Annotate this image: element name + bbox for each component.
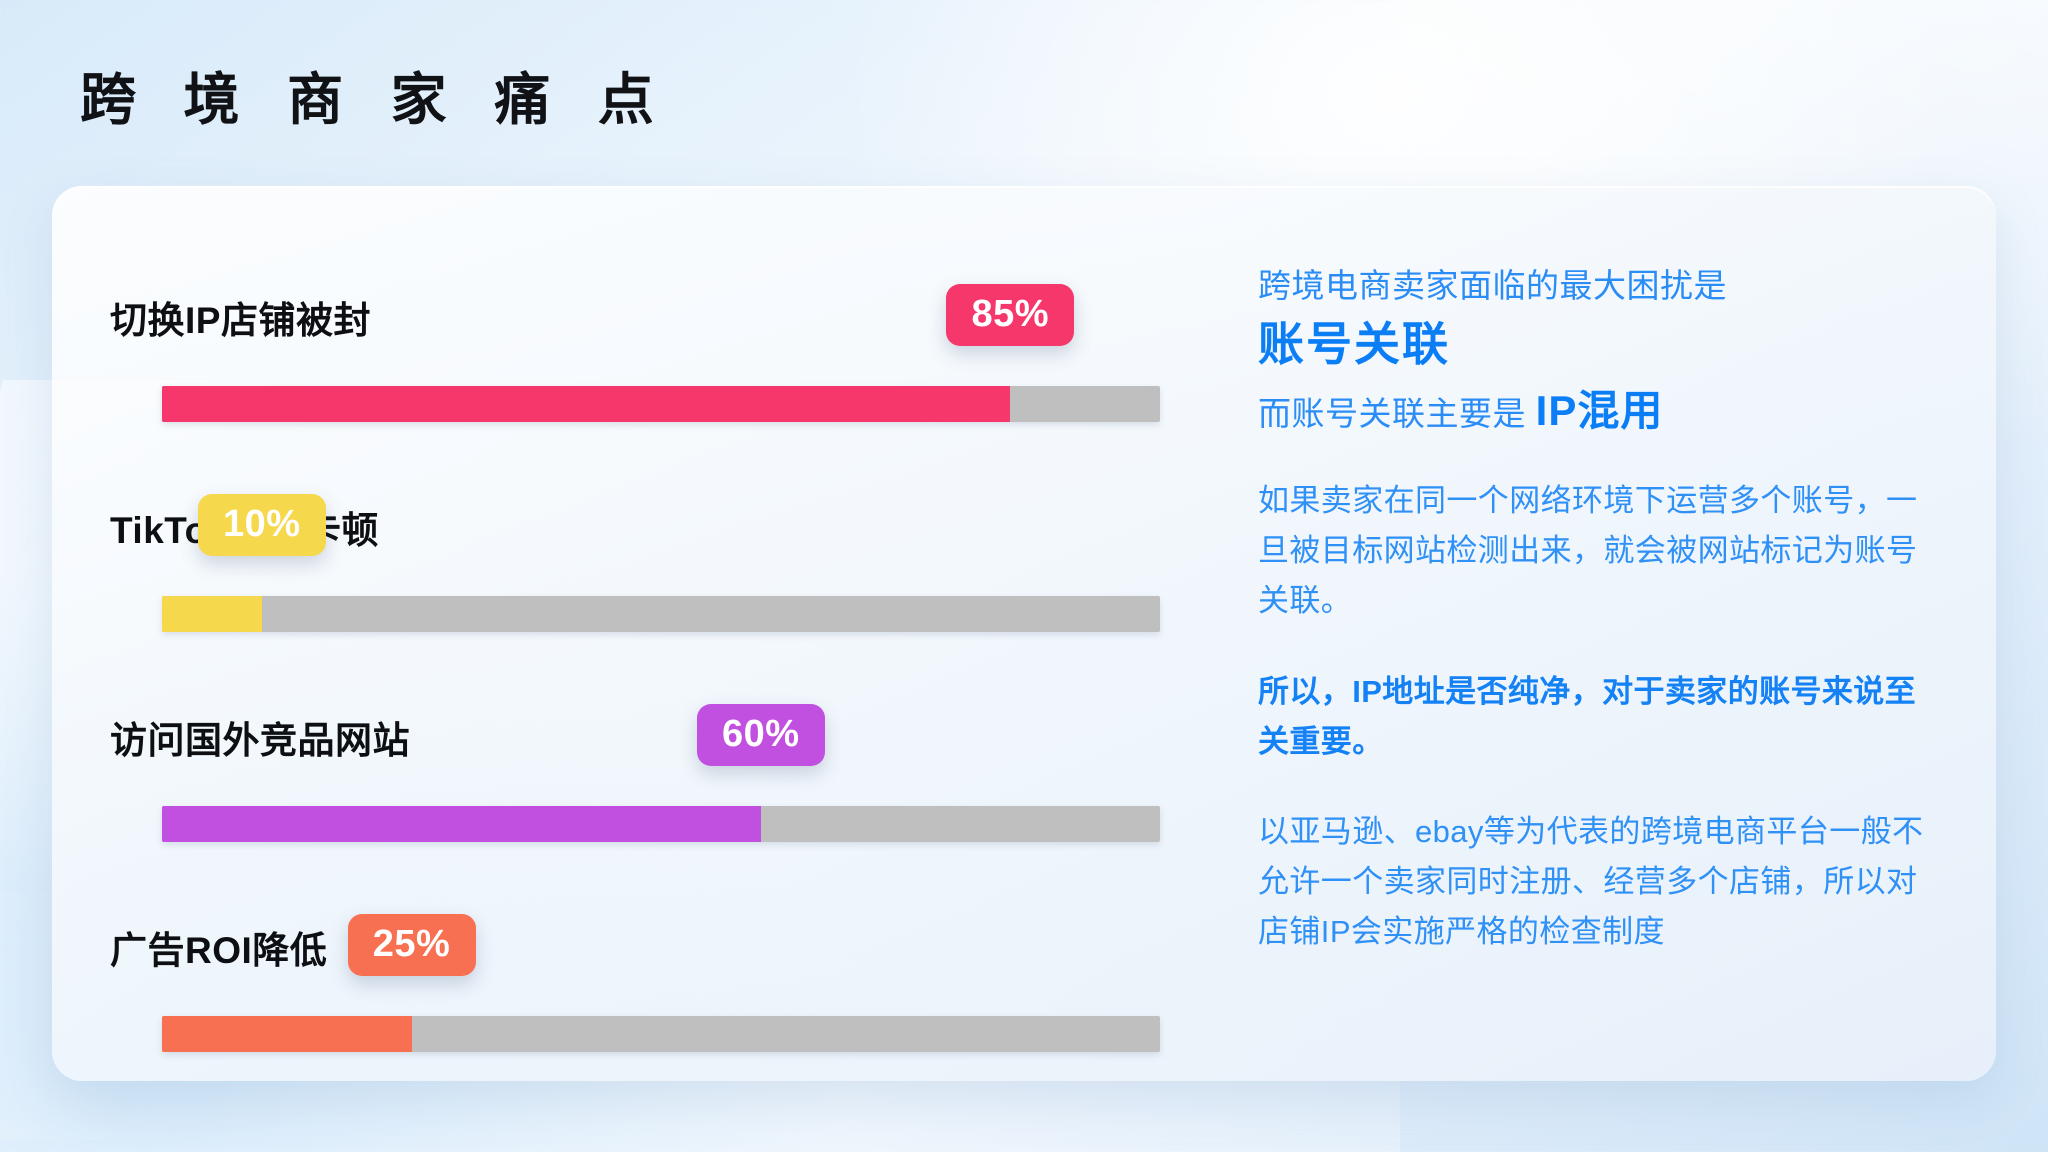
bar-value-badge: 25% — [348, 914, 476, 976]
copy-lead: 跨境电商卖家面临的最大困扰是 — [1258, 262, 1934, 310]
bar-header: 切换IP店铺被封 85% — [110, 282, 1202, 358]
bar-header: 访问国外竞品网站 60% — [110, 702, 1202, 778]
bar-label: 访问国外竞品网站 — [110, 722, 410, 759]
copy-keyword: 账号关联 — [1258, 310, 1934, 379]
content-card: 切换IP店铺被封 85% TikTok直播卡顿 10% 访问国外竞品网站 60% — [52, 186, 1996, 1081]
bar-header: TikTok直播卡顿 10% — [110, 492, 1202, 568]
bar-row: 切换IP店铺被封 85% — [110, 282, 1202, 492]
explanation-panel: 跨境电商卖家面临的最大困扰是 账号关联 而账号关联主要是 IP混用 如果卖家在同… — [1202, 186, 1996, 1081]
bar-track — [162, 596, 1160, 632]
bar-track — [162, 1016, 1160, 1052]
page-title: 跨 境 商 家 痛 点 — [80, 72, 670, 128]
bar-value-badge: 85% — [946, 284, 1074, 346]
bar-fill — [162, 806, 761, 842]
bar-value-badge: 10% — [198, 494, 326, 556]
bar-row: 访问国外竞品网站 60% — [110, 702, 1202, 912]
bar-row: 广告ROI降低 25% — [110, 912, 1202, 1122]
bar-track — [162, 806, 1160, 842]
bar-track — [162, 386, 1160, 422]
copy-lead-secondary-prefix: 而账号关联主要是 — [1258, 395, 1526, 432]
bar-value-badge: 60% — [697, 704, 825, 766]
bar-label: 广告ROI降低 — [110, 932, 327, 969]
bar-fill — [162, 596, 262, 632]
copy-lead-secondary-keyword: IP混用 — [1536, 387, 1664, 434]
copy-paragraph-1: 如果卖家在同一个网络环境下运营多个账号，一旦被目标网站检测出来，就会被网站标记为… — [1258, 476, 1934, 627]
copy-paragraph-3: 以亚马逊、ebay等为代表的跨境电商平台一般不允许一个卖家同时注册、经营多个店铺… — [1258, 807, 1934, 958]
bar-row: TikTok直播卡顿 10% — [110, 492, 1202, 702]
bar-fill — [162, 1016, 412, 1052]
bar-label: 切换IP店铺被封 — [110, 302, 371, 339]
copy-paragraph-2: 所以，IP地址是否纯净，对于卖家的账号来说至关重要。 — [1258, 667, 1934, 767]
bar-header: 广告ROI降低 25% — [110, 912, 1202, 988]
bar-fill — [162, 386, 1010, 422]
copy-lead-secondary: 而账号关联主要是 IP混用 — [1258, 379, 1934, 442]
bar-chart-panel: 切换IP店铺被封 85% TikTok直播卡顿 10% 访问国外竞品网站 60% — [52, 186, 1202, 1081]
